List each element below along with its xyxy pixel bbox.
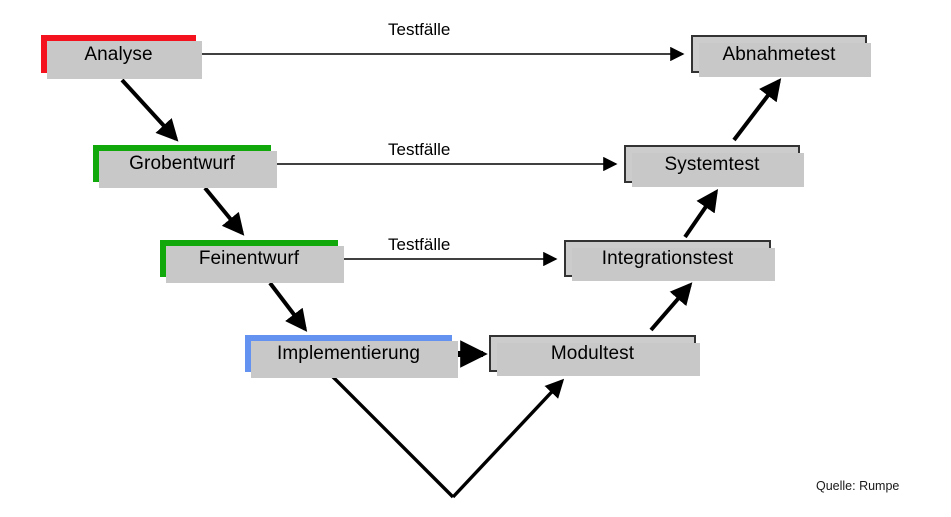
node-integrationstest-label: Integrationstest	[602, 249, 734, 268]
node-abnahmetest-label: Abnahmetest	[722, 45, 835, 64]
node-grobentwurf[interactable]: Grobentwurf	[93, 145, 271, 182]
node-implementierung[interactable]: Implementierung	[245, 335, 452, 372]
node-systemtest[interactable]: Systemtest	[624, 145, 800, 183]
line-feinentwurf-to-implementierung	[270, 283, 305, 329]
node-systemtest-label: Systemtest	[665, 155, 760, 174]
line-systemtest-to-abnahmetest	[734, 81, 779, 140]
node-analyse[interactable]: Analyse	[41, 35, 196, 73]
node-abnahmetest[interactable]: Abnahmetest	[691, 35, 867, 73]
node-grobentwurf-label: Grobentwurf	[129, 154, 235, 173]
node-feinentwurf-label: Feinentwurf	[199, 249, 299, 268]
line-integrationstest-to-systemtest	[685, 192, 716, 237]
node-integrationstest[interactable]: Integrationstest	[564, 240, 771, 277]
edge-label-testfaelle-3: Testfälle	[388, 236, 450, 253]
v-model-diagram: Analyse Grobentwurf Feinentwurf Implemen…	[0, 0, 951, 517]
node-modultest[interactable]: Modultest	[489, 335, 696, 372]
node-analyse-label: Analyse	[84, 45, 152, 64]
line-analyse-to-grobentwurf	[122, 80, 176, 139]
line-modultest-to-integrationstest	[651, 285, 690, 330]
source-note: Quelle: Rumpe	[816, 480, 899, 493]
line-vertex-to-modultest	[453, 381, 562, 497]
node-implementierung-label: Implementierung	[277, 344, 420, 363]
edge-label-testfaelle-2: Testfälle	[388, 141, 450, 158]
node-modultest-label: Modultest	[551, 344, 634, 363]
edge-label-testfaelle-1: Testfälle	[388, 21, 450, 38]
node-feinentwurf[interactable]: Feinentwurf	[160, 240, 338, 277]
line-implementierung-to-vertex	[330, 374, 453, 497]
line-grobentwurf-to-feinentwurf	[205, 188, 242, 233]
